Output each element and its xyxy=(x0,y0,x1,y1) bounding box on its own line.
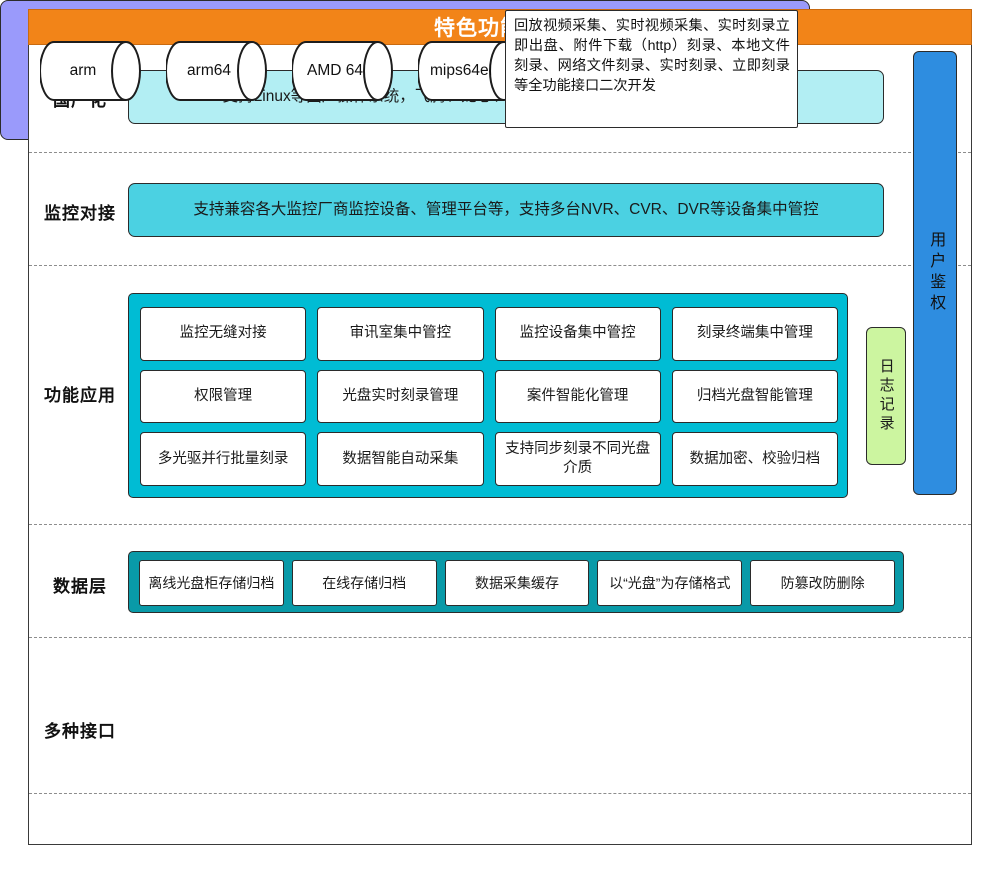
row-separator-5 xyxy=(29,793,971,794)
cylinder-icon xyxy=(40,40,144,102)
function-cell[interactable]: 监控设备集中管控 xyxy=(495,307,661,361)
cylinder-arm[interactable]: arm xyxy=(40,40,144,102)
row-label-monitoring: 监控对接 xyxy=(30,199,130,224)
data-cell[interactable]: 离线光盘柜存储归档 xyxy=(139,560,284,606)
data-cell[interactable]: 防篡改防删除 xyxy=(750,560,895,606)
function-cell[interactable]: 审讯室集中管控 xyxy=(317,307,483,361)
function-cell[interactable]: 监控无缝对接 xyxy=(140,307,306,361)
function-app-container: 监控无缝对接 审讯室集中管控 监控设备集中管控 刻录终端集中管理 权限管理 光盘… xyxy=(128,293,848,498)
function-cell[interactable]: 支持同步刻录不同光盘介质 xyxy=(495,432,661,486)
row-separator-2 xyxy=(29,265,971,266)
function-cell[interactable]: 数据智能自动采集 xyxy=(317,432,483,486)
monitoring-box: 支持兼容各大监控厂商监控设备、管理平台等，支持多台NVR、CVR、DVR等设备集… xyxy=(128,183,884,237)
data-cell[interactable]: 以“光盘”为存储格式 xyxy=(597,560,742,606)
row-separator-3 xyxy=(29,524,971,525)
row-label-interfaces: 多种接口 xyxy=(30,717,130,742)
function-cell[interactable]: 光盘实时刻录管理 xyxy=(317,370,483,424)
function-cell[interactable]: 权限管理 xyxy=(140,370,306,424)
function-app-grid: 监控无缝对接 审讯室集中管控 监控设备集中管控 刻录终端集中管理 权限管理 光盘… xyxy=(140,307,838,486)
cylinder-arm64[interactable]: arm64 xyxy=(166,40,270,102)
function-cell[interactable]: 数据加密、校验归档 xyxy=(672,432,838,486)
api-description-box: 回放视频采集、实时视频采集、实时刻录立即出盘、附件下载（http）刻录、本地文件… xyxy=(505,10,798,128)
architecture-cylinder-strip: arm arm64 AMD 64 mips64el xyxy=(40,40,530,102)
cylinder-amd64[interactable]: AMD 64 xyxy=(292,40,396,102)
function-cell[interactable]: 刻录终端集中管理 xyxy=(672,307,838,361)
user-authentication-sidebar: 用户鉴权 xyxy=(913,51,957,495)
data-layer-row: 离线光盘柜存储归档 在线存储归档 数据采集缓存 以“光盘”为存储格式 防篡改防删… xyxy=(139,560,895,606)
data-cell[interactable]: 在线存储归档 xyxy=(292,560,437,606)
row-label-data-layer: 数据层 xyxy=(30,572,130,597)
row-label-function-app: 功能应用 xyxy=(30,381,130,406)
data-cell[interactable]: 数据采集缓存 xyxy=(445,560,590,606)
cylinder-icon xyxy=(292,40,396,102)
function-cell[interactable]: 归档光盘智能管理 xyxy=(672,370,838,424)
data-layer-container: 离线光盘柜存储归档 在线存储归档 数据采集缓存 以“光盘”为存储格式 防篡改防删… xyxy=(128,551,904,613)
function-cell[interactable]: 多光驱并行批量刻录 xyxy=(140,432,306,486)
cylinder-icon xyxy=(166,40,270,102)
log-record-box: 日志记录 xyxy=(866,327,906,465)
row-separator-1 xyxy=(29,152,971,153)
row-separator-4 xyxy=(29,637,971,638)
function-cell[interactable]: 案件智能化管理 xyxy=(495,370,661,424)
